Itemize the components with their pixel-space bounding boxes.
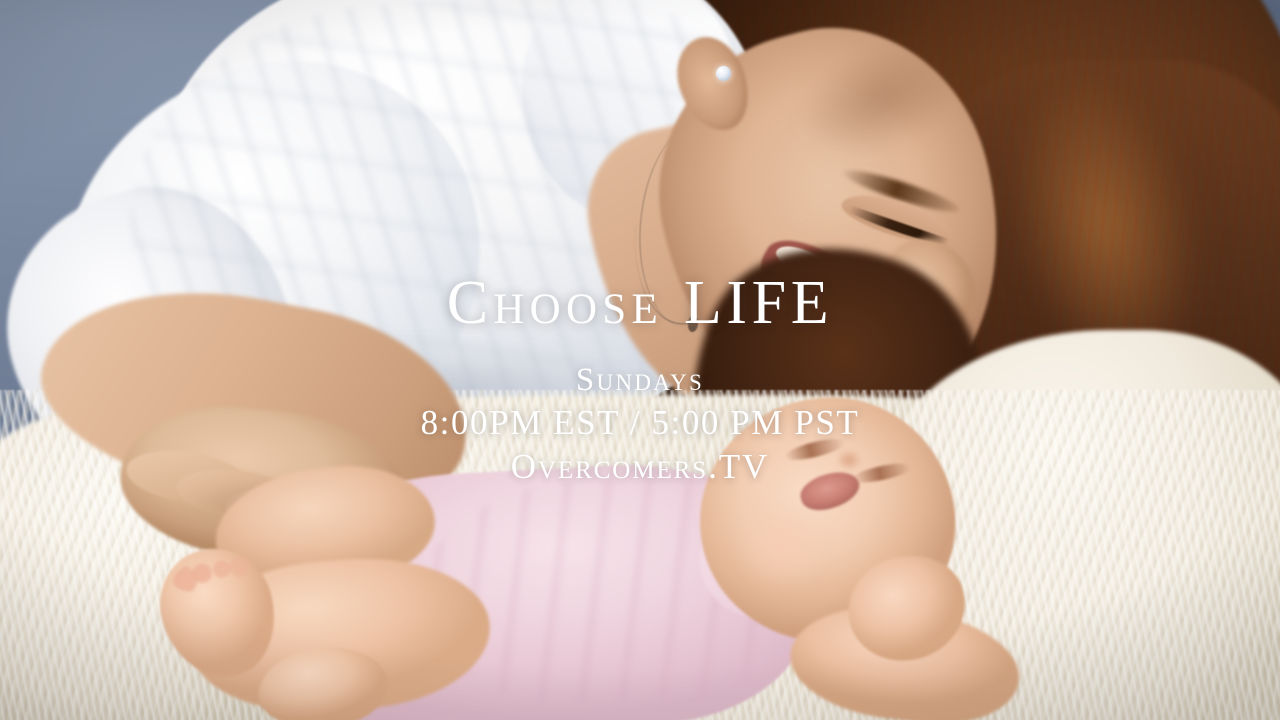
- program-title-word-choose: Choose: [447, 269, 663, 337]
- schedule-day: Sundays: [0, 364, 1280, 397]
- video-title-card: Choose LIFE Sundays 8:00PM EST / 5:00 PM…: [0, 0, 1280, 720]
- website-url: Overcomers.TV: [0, 449, 1280, 484]
- program-title: Choose LIFE: [0, 272, 1280, 334]
- earring-stud: [716, 66, 731, 81]
- program-title-word-life: LIFE: [684, 269, 833, 337]
- schedule-time: 8:00PM EST / 5:00 PM PST: [0, 405, 1280, 440]
